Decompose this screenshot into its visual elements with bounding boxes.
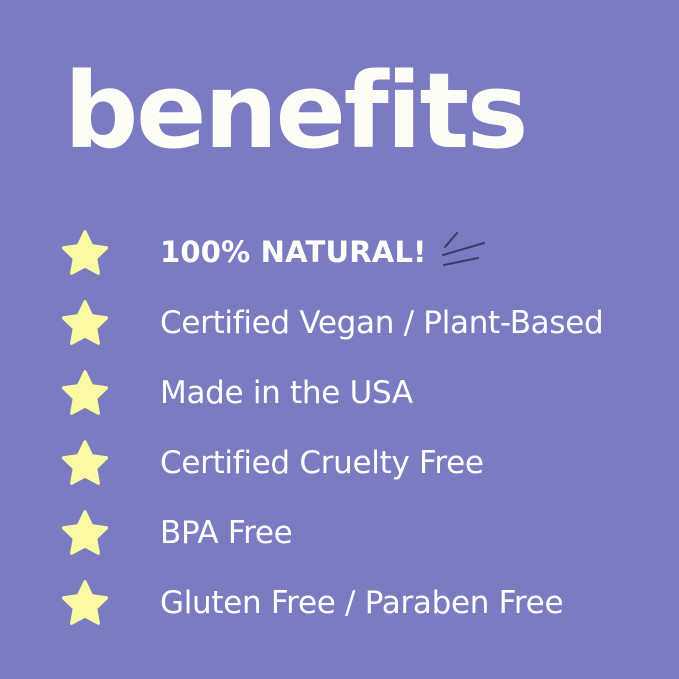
benefit-item-label: Gluten Free / Paraben Free: [160, 586, 563, 620]
benefit-item: Gluten Free / Paraben Free: [0, 568, 679, 638]
benefit-item: 100% NATURAL!: [0, 218, 679, 288]
star-icon: [62, 510, 108, 556]
benefits-list: 100% NATURAL!Certified Vegan / Plant-Bas…: [0, 218, 679, 638]
star-icon: [62, 440, 108, 486]
star-icon: [62, 370, 108, 416]
sparkle-icon: [440, 227, 488, 279]
star-icon: [62, 580, 108, 626]
benefit-item: Certified Cruelty Free: [0, 428, 679, 498]
benefit-item: BPA Free: [0, 498, 679, 568]
benefits-poster: benefits 100% NATURAL!Certified Vegan / …: [0, 0, 679, 679]
benefit-item-label: 100% NATURAL!: [160, 237, 427, 269]
star-icon: [62, 300, 108, 346]
page-title: benefits: [64, 56, 624, 166]
benefit-item-label: Certified Cruelty Free: [160, 446, 484, 480]
benefit-item-label: BPA Free: [160, 516, 292, 550]
benefit-item: Certified Vegan / Plant-Based: [0, 288, 679, 358]
benefit-item-label: Certified Vegan / Plant-Based: [160, 306, 603, 340]
benefit-item-label: Made in the USA: [160, 376, 413, 410]
star-icon: [62, 230, 108, 276]
benefit-item: Made in the USA: [0, 358, 679, 428]
